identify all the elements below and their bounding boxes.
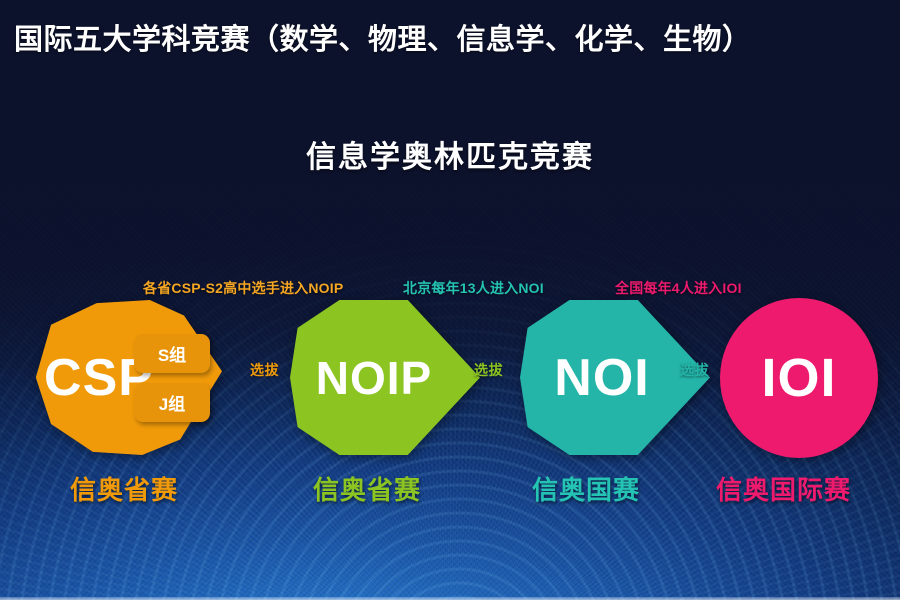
annotation-csp-to-noip: 各省CSP-S2高中选手进入NOIP [143,278,343,298]
caption-noip: 信奥省赛 [313,470,421,507]
connector-noip-to-noi: 选拔 [474,360,503,380]
csp-badge-j[interactable]: J组 [134,383,210,422]
stage-ioi-shape: IOI [720,298,878,458]
slide-subtitle: 信息学奥林匹克竞赛 [0,132,900,176]
connector-noi-to-ioi: 选拔 [680,360,709,380]
stage-noip-shape: NOIP [290,300,480,455]
csp-badge-s[interactable]: S组 [134,334,210,373]
slide-title: 国际五大学科竞赛（数学、物理、信息学、化学、生物） [14,16,752,58]
caption-noi: 信奥国赛 [532,470,640,507]
csp-group-badges: S组 J组 [134,334,210,422]
connector-csp-to-noip: 选拔 [250,360,279,380]
stage-csp-shape: CSP S组 J组 [32,300,222,455]
slide-canvas: 国际五大学科竞赛（数学、物理、信息学、化学、生物） 信息学奥林匹克竞赛 CSP … [0,0,900,600]
annotation-noip-to-noi: 北京每年13人进入NOI [403,278,544,298]
caption-csp: 信奥省赛 [70,470,178,507]
noip-shape-fill [290,300,480,455]
annotation-noi-to-ioi: 全国每年4人进入IOI [615,278,742,298]
caption-ioi: 信奥国际赛 [716,470,851,507]
stage-csp[interactable]: CSP S组 J组 [32,300,222,455]
stage-noip[interactable]: NOIP [290,300,480,455]
ioi-shape-fill [720,298,878,458]
stage-ioi[interactable]: IOI [720,298,878,458]
